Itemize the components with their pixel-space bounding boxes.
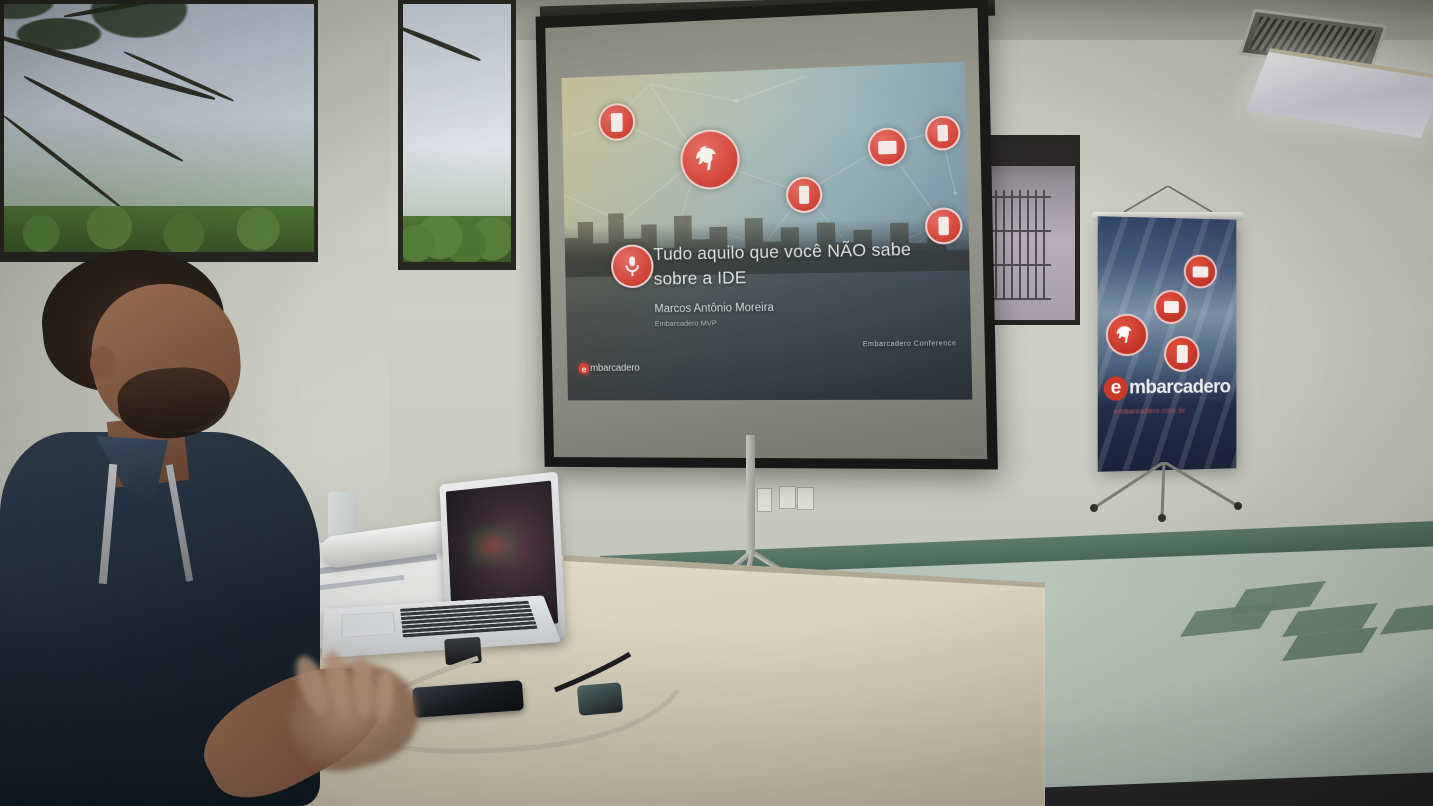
tree-foliage [4,4,234,100]
banner-phone-icon [1164,336,1199,372]
slide-title-line-2: sobre a IDE [654,261,956,291]
tripod-mast [746,435,755,555]
slide-author-role: Embarcadero MVP [655,319,717,329]
slide-title: Tudo aquilo que você NÃO sabe sobre a ID… [653,236,955,291]
tree-branch [4,114,123,210]
microphone-glyph [622,255,642,277]
window-glass [403,4,511,262]
window-glass [4,4,314,252]
photo-scene: Tudo aquilo que você NÃO sabe sobre a ID… [0,0,1433,806]
banner-tablet-center-icon [1154,290,1188,324]
screen-surface: Tudo aquilo que você NÃO sabe sobre a ID… [545,8,987,459]
banner-url: embarcadero.com.br [1114,408,1186,416]
banner-hanger [1120,186,1216,214]
presenter-ear [90,346,116,380]
embarcadero-wordmark: mbarcadero [590,363,640,374]
tree-branch [403,24,481,62]
slide-author: Marcos Antônio Moreira [654,302,774,315]
presentation-clicker[interactable] [577,682,623,716]
window-left-narrow [398,0,516,270]
rollup-banner: e mbarcadero embarcadero.com.br [1098,216,1237,472]
window-left-trees [0,0,318,262]
spartan-helmet-glyph [695,144,725,175]
projection-screen: Tudo aquilo que você NÃO sabe sobre a ID… [515,0,985,470]
screen-frame: Tudo aquilo que você NÃO sabe sobre a ID… [536,0,998,469]
embarcadero-e-mark: e [579,363,590,374]
banner-helmet-icon [1106,314,1148,357]
spartan-helmet-glyph [1116,324,1138,346]
banner-stand [1088,462,1248,522]
banner-embarcadero-logo: e mbarcadero [1104,376,1231,401]
slide-title-line-1: Tudo aquilo que você NÃO sabe [653,236,955,267]
slide-embarcadero-logo: e mbarcadero [579,363,640,374]
presentation-slide: Tudo aquilo que você NÃO sabe sobre a ID… [561,62,972,401]
hedge [4,206,314,252]
slide-conference-label: Embarcadero Conference [863,340,957,348]
embarcadero-e-mark: e [1104,376,1128,400]
presenter [0,250,470,806]
embarcadero-wordmark: mbarcadero [1129,377,1230,400]
banner-tablet-icon [1184,254,1217,288]
